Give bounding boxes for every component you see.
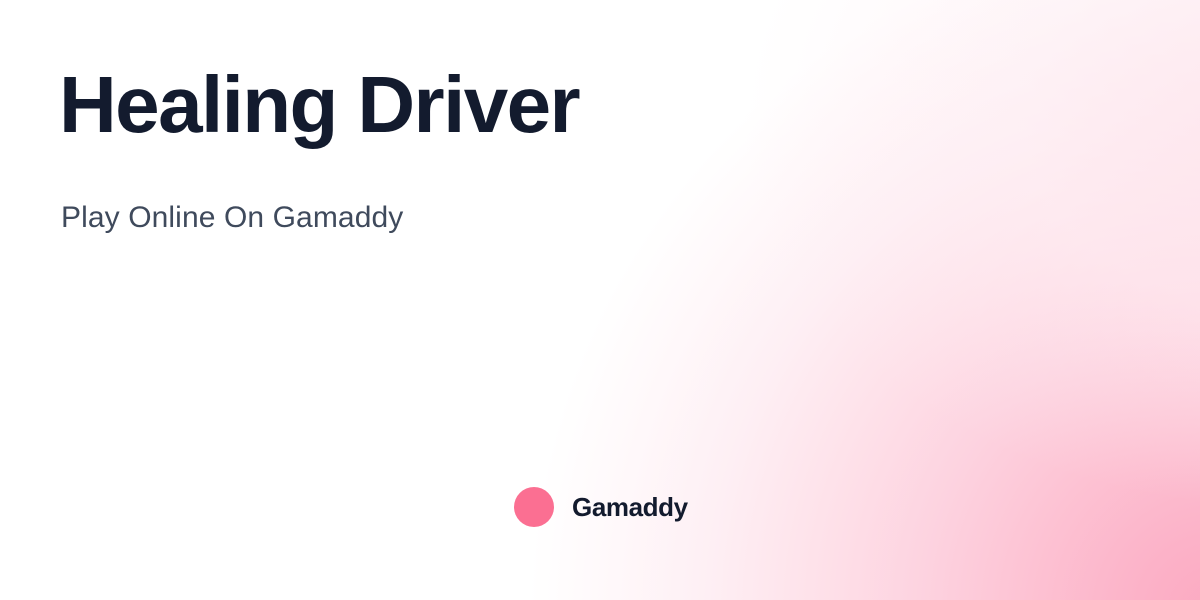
page-title: Healing Driver [59,57,579,153]
social-share-card: Healing Driver Play Online On Gamaddy Ga… [0,0,1200,600]
brand-lockup: Gamaddy [514,487,688,527]
circle-icon [514,487,554,527]
page-subtitle: Play Online On Gamaddy [61,198,403,238]
brand-name: Gamaddy [572,491,688,523]
card-content: Healing Driver Play Online On Gamaddy Ga… [0,0,1200,600]
